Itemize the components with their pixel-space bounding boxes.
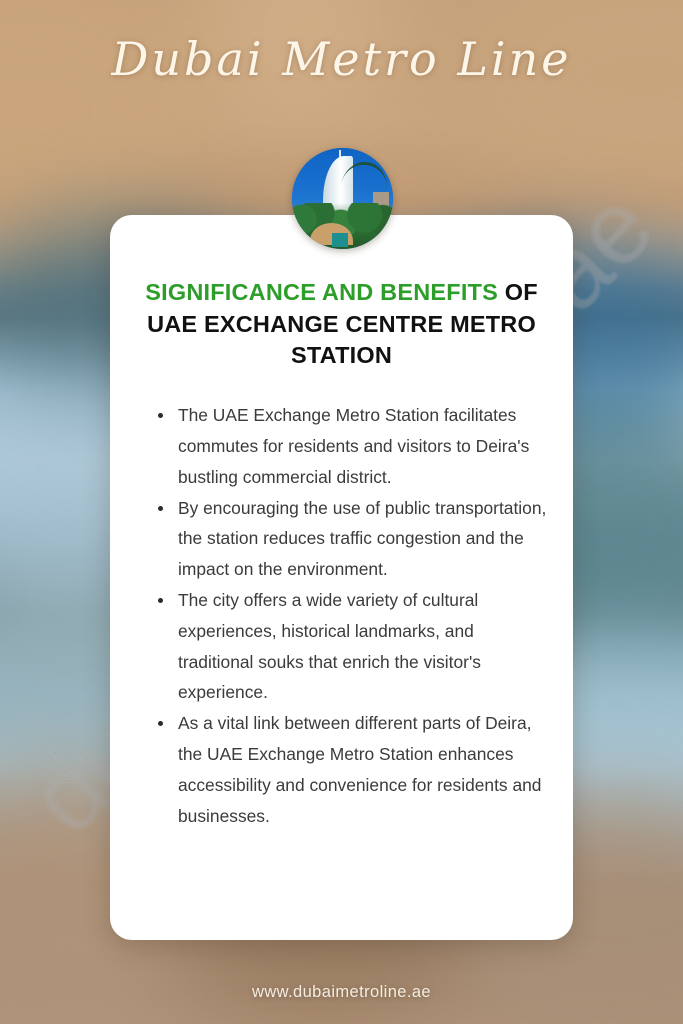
- benefits-list: The UAE Exchange Metro Station facilitat…: [136, 400, 547, 831]
- footer-url: www.dubaimetroline.ae: [0, 983, 683, 1002]
- list-item: As a vital link between different parts …: [174, 708, 547, 831]
- background-blob: [453, 0, 683, 200]
- list-item: By encouraging the use of public transpo…: [174, 493, 547, 585]
- card-heading: SIGNIFICANCE AND BENEFITS OF UAE EXCHANG…: [136, 277, 547, 372]
- list-item: The city offers a wide variety of cultur…: [174, 585, 547, 708]
- page-title: Dubai Metro Line: [0, 32, 683, 86]
- heading-highlight: SIGNIFICANCE AND BENEFITS: [145, 279, 498, 305]
- content-card: SIGNIFICANCE AND BENEFITS OF UAE EXCHANG…: [110, 215, 573, 940]
- teal-shape: [332, 233, 348, 247]
- burj-al-arab-icon: [292, 148, 393, 249]
- poster-canvas: dubaimetroline.ae Dubai Metro Line SIGNI…: [0, 0, 683, 1024]
- list-item: The UAE Exchange Metro Station facilitat…: [174, 400, 547, 492]
